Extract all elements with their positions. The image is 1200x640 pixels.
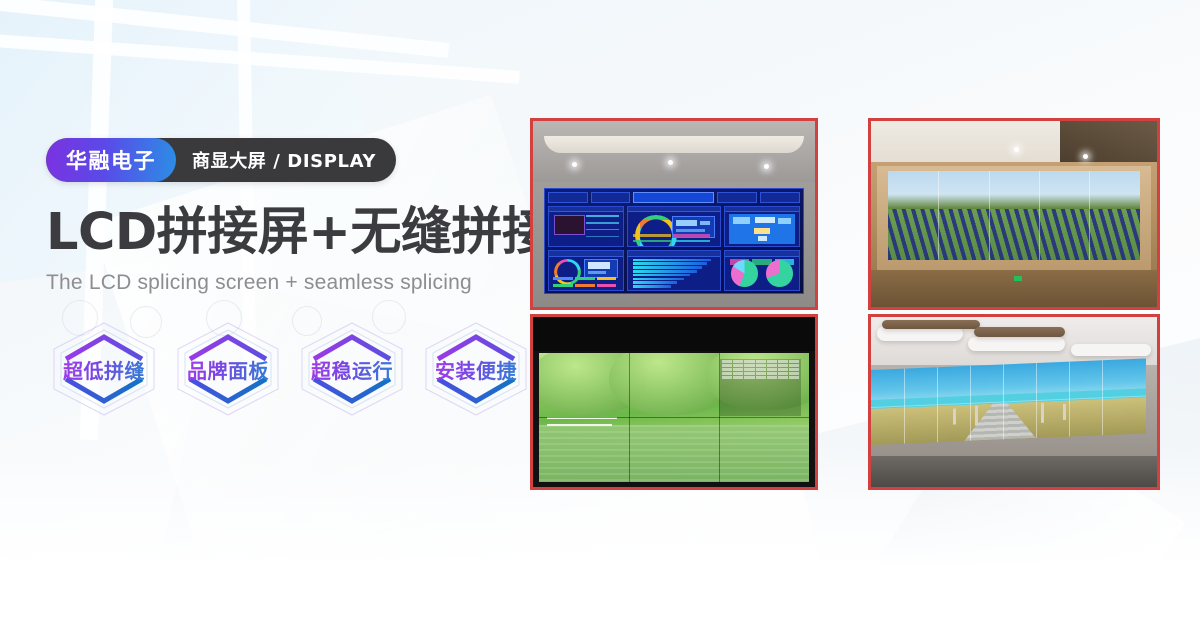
card-header <box>725 207 799 213</box>
legend-item <box>597 277 617 280</box>
metric-value <box>588 262 610 269</box>
legend <box>553 277 619 289</box>
calendar-cell <box>722 364 732 367</box>
dashboard-screen <box>544 188 803 294</box>
calendar-row <box>722 364 799 367</box>
metric-unit <box>700 221 710 225</box>
calendar-cell <box>767 376 777 379</box>
feature-badge-2: 超稳运行 <box>294 317 410 421</box>
card-text-lines <box>586 215 619 237</box>
dashboard-card-flow-diagram <box>724 206 800 247</box>
calendar-cell <box>722 368 732 371</box>
feature-badge-3: 安装便捷 <box>418 317 534 421</box>
metric-value <box>676 220 697 227</box>
photo-lobby-video-wall[interactable] <box>868 314 1160 490</box>
metric-caption <box>588 271 605 273</box>
flow-node <box>754 228 770 234</box>
bar-row <box>633 281 677 284</box>
fence-post <box>1063 403 1066 420</box>
feature-badge-label: 安装便捷 <box>435 355 517 384</box>
bar-row <box>633 266 701 269</box>
dashboard-card-pie-charts <box>724 250 800 291</box>
exit-sign-icon <box>1014 276 1022 281</box>
photo-dashboard-video-wall[interactable] <box>530 118 818 310</box>
card-header <box>549 251 623 257</box>
calendar-cell <box>767 364 777 367</box>
calendar-cell <box>744 368 754 371</box>
video-wall-screen <box>539 353 810 482</box>
panel-seam <box>539 417 810 418</box>
solar-farm-image <box>888 209 1140 261</box>
upper-black-panel-row <box>533 317 815 351</box>
video-wall-screen <box>871 358 1146 444</box>
metric-caption <box>676 229 704 231</box>
calendar-cell <box>789 360 799 363</box>
calendar-cell <box>722 360 732 363</box>
fence-post <box>1041 403 1044 423</box>
calendar-row <box>722 368 799 371</box>
page-title: LCD拼接屏+无缝拼接 <box>46 206 546 259</box>
ceiling-beam <box>974 327 1066 337</box>
calendar-cell <box>733 372 743 375</box>
bar-row <box>633 278 683 281</box>
dashboard-cards <box>548 206 799 291</box>
dashboard-card-intro <box>548 206 624 247</box>
calendar-cell <box>744 360 754 363</box>
bar-list <box>633 259 714 288</box>
text-line <box>586 222 619 224</box>
brand-name-badge: 华融电子 <box>46 138 176 182</box>
calendar-cell <box>756 364 766 367</box>
metric-panel-secondary <box>584 259 618 278</box>
pie-chart-left <box>731 260 757 286</box>
header-chip <box>591 192 631 203</box>
legend-item <box>553 277 573 280</box>
panel-seam <box>989 171 990 260</box>
bar-row <box>633 259 711 262</box>
page-subtitle: The LCD splicing screen + seamless splic… <box>46 271 546 295</box>
legend-item <box>597 284 617 287</box>
legend-item <box>575 277 595 280</box>
header-chip <box>548 192 588 203</box>
calendar-overlay <box>720 359 801 416</box>
flow-node <box>758 236 767 241</box>
dashboard-header <box>548 192 799 203</box>
fence-post <box>975 406 978 426</box>
video-wall-screen <box>888 171 1140 260</box>
calendar-cell <box>733 368 743 371</box>
panel-seam <box>1039 171 1040 260</box>
flow-node <box>733 217 750 224</box>
headline-block: 华融电子 商显大屏 / DISPLAY LCD拼接屏+无缝拼接 The LCD … <box>46 138 546 421</box>
bar-row <box>633 262 706 265</box>
calendar-cell <box>744 372 754 375</box>
flow-node <box>755 217 775 224</box>
legend-item <box>575 284 595 287</box>
calendar-cell <box>767 372 777 375</box>
card-header <box>628 207 720 213</box>
calendar-cell <box>789 368 799 371</box>
calendar-cell <box>767 360 777 363</box>
flow-node <box>778 218 791 225</box>
pie-chart-right <box>766 260 792 286</box>
legend-item <box>553 284 573 287</box>
card-header <box>628 251 720 257</box>
legend <box>633 234 714 243</box>
legend-item <box>633 240 670 243</box>
lake-water <box>539 425 810 482</box>
ceiling-beam <box>882 320 979 329</box>
ceiling-light-slab <box>1071 344 1151 356</box>
calendar-cell <box>778 376 788 379</box>
photo-green-lake-video-wall[interactable] <box>530 314 818 490</box>
bar-row <box>633 285 670 288</box>
feature-badge-0: 超低拼缝 <box>46 317 162 421</box>
calendar-cell <box>767 368 777 371</box>
text-line <box>586 215 619 217</box>
card-header <box>725 251 799 257</box>
flow-diagram <box>729 214 795 244</box>
ceiling-light <box>764 164 769 169</box>
ceiling-light-slab <box>968 337 1065 351</box>
calendar-row <box>722 360 799 363</box>
legend-item <box>673 234 710 237</box>
ceiling-light <box>1014 147 1019 152</box>
calendar-cell <box>722 376 732 379</box>
calendar-cell <box>756 376 766 379</box>
floor <box>871 456 1157 487</box>
dashboard-card-donut-metric <box>627 206 721 247</box>
promo-banner: 华融电子 商显大屏 / DISPLAY LCD拼接屏+无缝拼接 The LCD … <box>0 0 1200 640</box>
panel-seam <box>1089 171 1090 260</box>
feature-badge-label: 超低拼缝 <box>63 355 145 384</box>
text-line <box>586 236 619 238</box>
brand-category-badge: 华融电子 商显大屏 / DISPLAY <box>46 138 396 182</box>
calendar-cell <box>789 376 799 379</box>
header-title-chip <box>633 192 714 203</box>
category-label: 商显大屏 / DISPLAY <box>176 138 396 182</box>
calendar-cell <box>789 364 799 367</box>
calendar-cell <box>789 372 799 375</box>
calendar-cell <box>756 360 766 363</box>
panel-seam <box>938 171 939 260</box>
bar-row <box>633 274 690 277</box>
legend-item <box>633 234 670 237</box>
text-line <box>586 229 619 231</box>
header-chip <box>760 192 800 203</box>
feature-badge-list: 超低拼缝 品牌面板 超稳运行 <box>46 317 546 421</box>
calendar-cell <box>733 376 743 379</box>
dashboard-card-gauge <box>548 250 624 291</box>
calendar-row <box>722 372 799 375</box>
calendar-cell <box>778 360 788 363</box>
calendar-row <box>722 376 799 379</box>
feature-badge-label: 品牌面板 <box>187 355 269 384</box>
header-chip <box>717 192 757 203</box>
legend-item <box>673 240 710 243</box>
calendar-cell <box>756 372 766 375</box>
calendar-cell <box>778 372 788 375</box>
calendar-cell <box>744 364 754 367</box>
product-photo-grid <box>530 118 1160 490</box>
calendar-cell <box>733 360 743 363</box>
calendar-cell <box>722 372 732 375</box>
card-thumbnail <box>554 215 585 236</box>
lakeside-railing <box>547 424 612 426</box>
calendar-cell <box>778 368 788 371</box>
feature-badge-label: 超稳运行 <box>311 355 393 384</box>
calendar-cell <box>744 376 754 379</box>
fence-post <box>953 408 956 425</box>
calendar-cell <box>778 364 788 367</box>
card-header <box>549 207 623 213</box>
calendar-cell <box>733 364 743 367</box>
feature-badge-1: 品牌面板 <box>170 317 286 421</box>
ceiling-cove <box>544 136 803 153</box>
dashboard-card-ranking-bars <box>627 250 721 291</box>
calendar-cell <box>756 368 766 371</box>
bar-row <box>633 270 696 273</box>
photo-wood-room-video-wall[interactable] <box>868 118 1160 310</box>
